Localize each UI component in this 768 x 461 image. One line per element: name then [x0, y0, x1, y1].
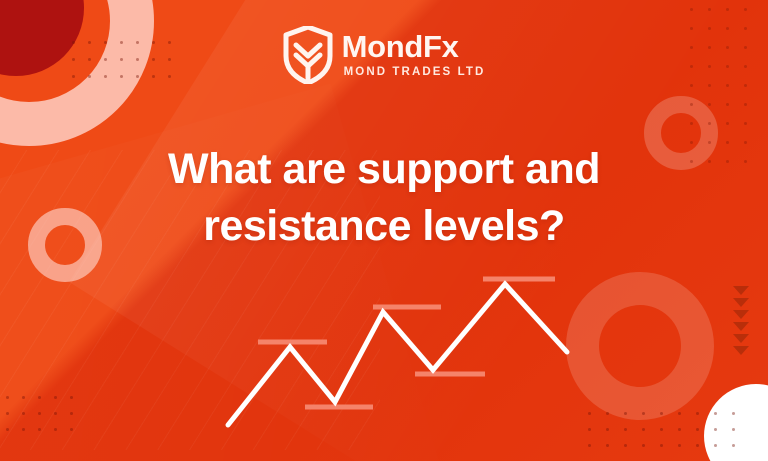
grid-dot	[660, 444, 663, 447]
grid-dot	[624, 412, 627, 415]
grid-dot	[744, 8, 747, 11]
grid-dot	[690, 8, 693, 11]
dot-grid-bottom-left	[6, 396, 86, 444]
grid-dot	[642, 412, 645, 415]
grid-dot	[22, 412, 25, 415]
grid-dot	[38, 412, 41, 415]
down-triangle-icon	[733, 286, 749, 295]
grid-dot	[38, 396, 41, 399]
grid-dot	[732, 428, 735, 431]
grid-dot	[678, 444, 681, 447]
grid-dot	[708, 8, 711, 11]
grid-dot	[708, 122, 711, 125]
grid-dot	[588, 412, 591, 415]
grid-dot	[708, 103, 711, 106]
grid-dot	[624, 444, 627, 447]
grid-dot	[642, 428, 645, 431]
dot-grid-bottom-right	[588, 412, 750, 460]
down-triangle-icon	[733, 322, 749, 331]
down-triangle-icon	[733, 298, 749, 307]
shield-chevron-icon	[283, 26, 333, 84]
grid-dot	[696, 428, 699, 431]
grid-dot	[714, 412, 717, 415]
down-triangle-icon	[733, 334, 749, 343]
down-triangle-column-decoration	[733, 286, 749, 355]
grid-dot	[22, 428, 25, 431]
page-title-line-2: resistance levels?	[0, 198, 768, 255]
grid-dot	[606, 444, 609, 447]
grid-dot	[690, 84, 693, 87]
grid-dot	[744, 84, 747, 87]
grid-dot	[732, 444, 735, 447]
grid-dot	[744, 122, 747, 125]
grid-dot	[678, 428, 681, 431]
brand-logo[interactable]: MondFx MOND TRADES LTD	[0, 26, 768, 84]
down-triangle-icon	[733, 346, 749, 355]
brand-wordmark: MondFx MOND TRADES LTD	[342, 31, 486, 79]
grid-dot	[726, 103, 729, 106]
grid-dot	[6, 412, 9, 415]
grid-dot	[6, 428, 9, 431]
grid-dot	[726, 8, 729, 11]
grid-dot	[642, 444, 645, 447]
grid-dot	[606, 428, 609, 431]
grid-dot	[588, 444, 591, 447]
brand-name: MondFx	[342, 31, 486, 62]
grid-dot	[690, 103, 693, 106]
grid-dot	[54, 396, 57, 399]
banner-canvas: MondFx MOND TRADES LTD What are support …	[0, 0, 768, 461]
grid-dot	[70, 412, 73, 415]
grid-dot	[624, 428, 627, 431]
grid-dot	[54, 412, 57, 415]
page-title-line-1: What are support and	[168, 145, 600, 193]
chart-svg	[205, 262, 585, 447]
down-triangle-icon	[733, 310, 749, 319]
grid-dot	[54, 428, 57, 431]
grid-dot	[726, 84, 729, 87]
grid-dot	[696, 444, 699, 447]
grid-dot	[714, 444, 717, 447]
support-resistance-chart	[205, 262, 585, 447]
grid-dot	[70, 428, 73, 431]
page-title: What are support and resistance levels?	[0, 141, 768, 255]
grid-dot	[708, 84, 711, 87]
grid-dot	[714, 428, 717, 431]
grid-dot	[660, 428, 663, 431]
grid-dot	[606, 412, 609, 415]
grid-dot	[6, 396, 9, 399]
grid-dot	[22, 396, 25, 399]
grid-dot	[70, 396, 73, 399]
grid-dot	[732, 412, 735, 415]
grid-dot	[38, 428, 41, 431]
grid-dot	[726, 122, 729, 125]
bottom-right-donut-ring	[566, 272, 714, 420]
grid-dot	[660, 412, 663, 415]
grid-dot	[588, 428, 591, 431]
grid-dot	[744, 103, 747, 106]
grid-dot	[690, 122, 693, 125]
grid-dot	[678, 412, 681, 415]
grid-dot	[696, 412, 699, 415]
brand-tagline: MOND TRADES LTD	[344, 67, 486, 79]
